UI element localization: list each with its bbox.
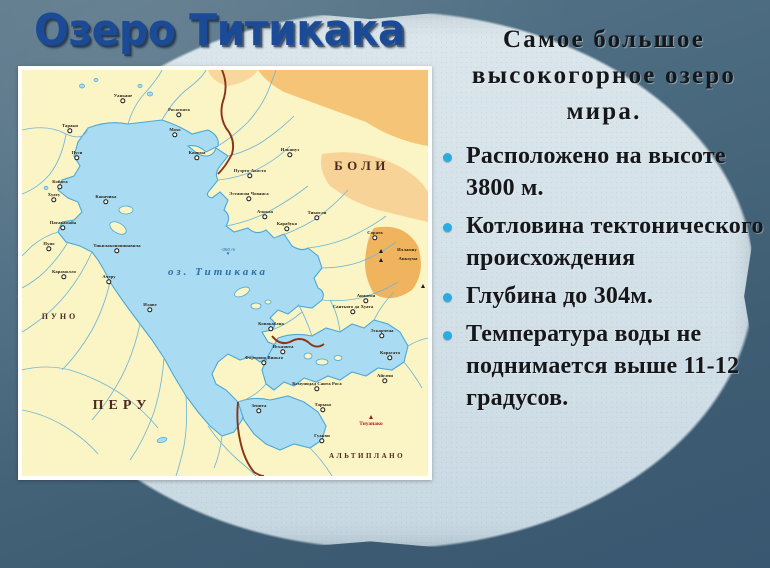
headline-text: Самое большое высокогорное озеро мира.: [444, 22, 764, 130]
city-label: Тикилаконовинавила: [93, 243, 140, 248]
mountain-peak-icon: [421, 284, 425, 288]
bullet-marker-icon: [443, 331, 452, 340]
list-item-label: Котловина тектонического происхождения: [466, 213, 764, 271]
list-item: Глубина до 304м.: [440, 280, 768, 312]
city-label: Фортовио Виньго: [245, 355, 283, 360]
city-label: Карасата: [380, 350, 400, 355]
titicaca-map: оз. Титикака -350 m▼ БОЛИ ПУНО ПЕРУ АЛЬТ…: [22, 70, 428, 476]
peak-label: Анкоума: [398, 256, 417, 261]
list-item-label: Расположено на высоте 3800 м.: [466, 143, 726, 201]
city-label: Тикисли: [308, 210, 327, 215]
region-label-altiplano: АЛЬТИПЛАНО: [329, 452, 405, 460]
city-label: Патакамайа: [50, 220, 77, 225]
city-label: Пуэрто-Акосто: [234, 168, 266, 173]
city-label: Сората: [367, 230, 383, 235]
city-label: Конима: [189, 150, 206, 155]
site-label: Тиуанако: [359, 421, 382, 427]
city-label: Ильяпуэ: [281, 147, 300, 152]
bullet-marker-icon: [443, 223, 452, 232]
city-label: Карамолло: [52, 269, 76, 274]
page-title: Озеро Титикака: [34, 4, 406, 60]
city-label: Хуату: [48, 192, 61, 197]
region-label-boli: БОЛИ: [334, 158, 390, 174]
city-label: Росаспата: [168, 107, 190, 112]
city-label: Ачокаа: [257, 209, 273, 214]
list-item-label: Глубина до 304м.: [466, 283, 653, 309]
city-label: Искаянта: [272, 344, 293, 349]
list-item-label: Температура воды не поднимается выше 11-…: [466, 321, 739, 411]
city-label: Уанкане: [114, 93, 133, 98]
city-label: Пуно: [43, 241, 54, 246]
list-item: Расположено на высоте 3800 м.: [440, 140, 768, 204]
peak-label: Илламну: [397, 247, 417, 252]
list-item: Температура воды не поднимается выше 11-…: [440, 318, 768, 414]
city-label: Илаве: [143, 302, 156, 307]
bullet-marker-icon: [443, 293, 452, 302]
city-label: Ананеон: [357, 293, 376, 298]
mountain-peak-icon: [379, 249, 383, 253]
city-label: Тараки: [62, 123, 78, 128]
city-label: Зепита: [252, 403, 267, 408]
city-label: Капачика: [95, 194, 116, 199]
city-label: Койата: [52, 179, 67, 184]
site-marker-icon: [369, 415, 373, 419]
city-label: Ачеру: [102, 274, 115, 279]
city-label: Мохо: [169, 127, 180, 132]
city-label: Эскарчена: [371, 328, 394, 333]
slide-root: Озеро Титикака Самое большое высокогорно…: [0, 0, 770, 568]
city-label: Тарыко: [315, 402, 332, 407]
city-label: Эстансиа Чованса: [229, 191, 269, 196]
region-label-puno: ПУНО: [42, 312, 79, 321]
lake-label: оз. Титикака: [168, 266, 268, 278]
bullet-marker-icon: [443, 153, 452, 162]
map-frame: оз. Титикака -350 m▼ БОЛИ ПУНО ПЕРУ АЛЬТ…: [18, 66, 432, 480]
region-label-peru: ПЕРУ: [93, 398, 152, 414]
city-label: Сантьяго да Хуата: [333, 304, 373, 309]
bullet-list: Расположено на высоте 3800 м. Котловина …: [440, 140, 768, 420]
depth-marker: -350 m▼: [221, 248, 235, 256]
mountain-peak-icon: [379, 258, 383, 262]
city-label: Карабуко: [277, 221, 298, 226]
city-label: Айгачи: [377, 373, 393, 378]
city-label: Копакабана: [258, 321, 284, 326]
city-label: Комунидад Санта Роса: [292, 381, 342, 386]
city-label: Гуакви: [314, 433, 330, 438]
city-label: Пуси: [72, 150, 83, 155]
list-item: Котловина тектонического происхождения: [440, 210, 768, 274]
